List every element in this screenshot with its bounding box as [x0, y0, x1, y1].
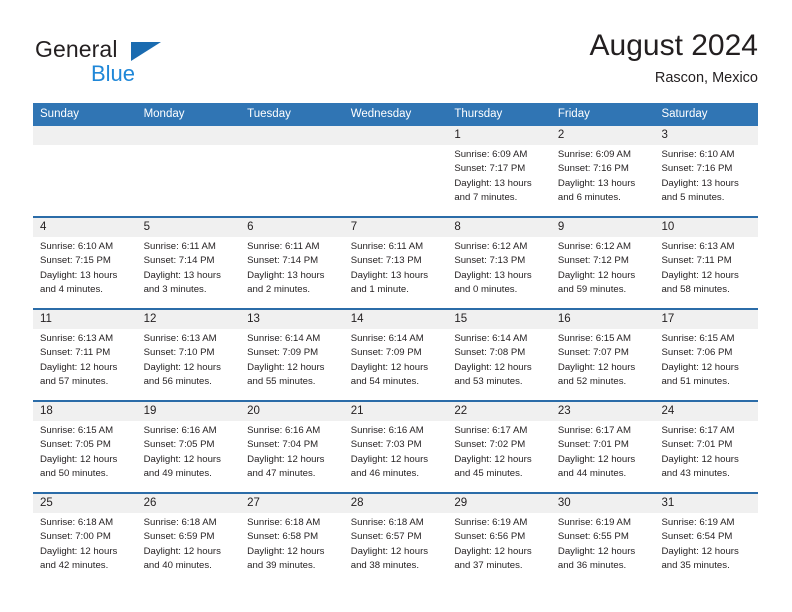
sunset-text: Sunset: 7:04 PM	[247, 438, 336, 452]
sunrise-text: Sunrise: 6:09 AM	[558, 148, 647, 162]
day-details: Sunrise: 6:17 AMSunset: 7:02 PMDaylight:…	[447, 421, 551, 482]
day-details: Sunrise: 6:15 AMSunset: 7:05 PMDaylight:…	[33, 421, 137, 482]
sunset-text: Sunset: 6:55 PM	[558, 530, 647, 544]
day-cell[interactable]: 10Sunrise: 6:13 AMSunset: 7:11 PMDayligh…	[654, 218, 758, 308]
day-number: 8	[447, 218, 551, 237]
day-cell[interactable]: 30Sunrise: 6:19 AMSunset: 6:55 PMDayligh…	[551, 494, 655, 584]
day-number	[33, 126, 137, 145]
sunrise-text: Sunrise: 6:18 AM	[351, 516, 440, 530]
daylight-text-line1: Daylight: 13 hours	[454, 177, 543, 191]
sunrise-text: Sunrise: 6:12 AM	[558, 240, 647, 254]
sunrise-text: Sunrise: 6:12 AM	[454, 240, 543, 254]
day-cell[interactable]: 20Sunrise: 6:16 AMSunset: 7:04 PMDayligh…	[240, 402, 344, 492]
sunrise-text: Sunrise: 6:17 AM	[454, 424, 543, 438]
daylight-text-line2: and 52 minutes.	[558, 375, 647, 389]
daylight-text-line2: and 38 minutes.	[351, 559, 440, 573]
day-number: 15	[447, 310, 551, 329]
daylight-text-line1: Daylight: 13 hours	[247, 269, 336, 283]
daylight-text-line2: and 2 minutes.	[247, 283, 336, 297]
sunset-text: Sunset: 7:09 PM	[351, 346, 440, 360]
day-cell[interactable]: 22Sunrise: 6:17 AMSunset: 7:02 PMDayligh…	[447, 402, 551, 492]
day-cell[interactable]: 17Sunrise: 6:15 AMSunset: 7:06 PMDayligh…	[654, 310, 758, 400]
day-number: 21	[344, 402, 448, 421]
sunrise-text: Sunrise: 6:18 AM	[247, 516, 336, 530]
daylight-text-line2: and 4 minutes.	[40, 283, 129, 297]
sunrise-text: Sunrise: 6:19 AM	[558, 516, 647, 530]
weekday-header-tuesday: Tuesday	[240, 103, 344, 126]
daylight-text-line2: and 1 minute.	[351, 283, 440, 297]
day-details: Sunrise: 6:17 AMSunset: 7:01 PMDaylight:…	[551, 421, 655, 482]
day-cell[interactable]: 16Sunrise: 6:15 AMSunset: 7:07 PMDayligh…	[551, 310, 655, 400]
daylight-text-line1: Daylight: 12 hours	[40, 545, 129, 559]
weekday-header-sunday: Sunday	[33, 103, 137, 126]
daylight-text-line2: and 39 minutes.	[247, 559, 336, 573]
sunset-text: Sunset: 7:05 PM	[144, 438, 233, 452]
day-cell[interactable]: 14Sunrise: 6:14 AMSunset: 7:09 PMDayligh…	[344, 310, 448, 400]
sunrise-text: Sunrise: 6:09 AM	[454, 148, 543, 162]
sunrise-text: Sunrise: 6:15 AM	[661, 332, 750, 346]
sunset-text: Sunset: 7:08 PM	[454, 346, 543, 360]
day-number: 9	[551, 218, 655, 237]
sunrise-text: Sunrise: 6:13 AM	[661, 240, 750, 254]
daylight-text-line1: Daylight: 13 hours	[661, 177, 750, 191]
daylight-text-line1: Daylight: 12 hours	[351, 361, 440, 375]
sunset-text: Sunset: 7:09 PM	[247, 346, 336, 360]
sunrise-text: Sunrise: 6:14 AM	[247, 332, 336, 346]
day-number: 20	[240, 402, 344, 421]
weekday-header-wednesday: Wednesday	[344, 103, 448, 126]
day-details: Sunrise: 6:11 AMSunset: 7:14 PMDaylight:…	[240, 237, 344, 298]
calendar-page: General Blue August 2024 Rascon, Mexico …	[0, 0, 792, 612]
day-details: Sunrise: 6:19 AMSunset: 6:55 PMDaylight:…	[551, 513, 655, 574]
daylight-text-line1: Daylight: 12 hours	[661, 453, 750, 467]
sunset-text: Sunset: 6:57 PM	[351, 530, 440, 544]
daylight-text-line1: Daylight: 13 hours	[144, 269, 233, 283]
sunset-text: Sunset: 7:17 PM	[454, 162, 543, 176]
daylight-text-line1: Daylight: 13 hours	[454, 269, 543, 283]
day-number: 27	[240, 494, 344, 513]
day-details: Sunrise: 6:10 AMSunset: 7:15 PMDaylight:…	[33, 237, 137, 298]
sunrise-text: Sunrise: 6:19 AM	[454, 516, 543, 530]
day-cell[interactable]: 21Sunrise: 6:16 AMSunset: 7:03 PMDayligh…	[344, 402, 448, 492]
day-details: Sunrise: 6:13 AMSunset: 7:11 PMDaylight:…	[33, 329, 137, 390]
day-number: 25	[33, 494, 137, 513]
sunset-text: Sunset: 7:11 PM	[40, 346, 129, 360]
sunset-text: Sunset: 7:01 PM	[558, 438, 647, 452]
sunset-text: Sunset: 7:14 PM	[247, 254, 336, 268]
day-number: 11	[33, 310, 137, 329]
sunset-text: Sunset: 7:01 PM	[661, 438, 750, 452]
day-cell[interactable]: 13Sunrise: 6:14 AMSunset: 7:09 PMDayligh…	[240, 310, 344, 400]
day-cell[interactable]: 6Sunrise: 6:11 AMSunset: 7:14 PMDaylight…	[240, 218, 344, 308]
sunset-text: Sunset: 7:13 PM	[454, 254, 543, 268]
day-cell[interactable]: 28Sunrise: 6:18 AMSunset: 6:57 PMDayligh…	[344, 494, 448, 584]
sunset-text: Sunset: 7:10 PM	[144, 346, 233, 360]
daylight-text-line1: Daylight: 12 hours	[661, 545, 750, 559]
day-cell[interactable]: 31Sunrise: 6:19 AMSunset: 6:54 PMDayligh…	[654, 494, 758, 584]
sunset-text: Sunset: 7:15 PM	[40, 254, 129, 268]
day-cell[interactable]: 8Sunrise: 6:12 AMSunset: 7:13 PMDaylight…	[447, 218, 551, 308]
day-number: 24	[654, 402, 758, 421]
sunrise-text: Sunrise: 6:11 AM	[144, 240, 233, 254]
sunrise-text: Sunrise: 6:16 AM	[144, 424, 233, 438]
daylight-text-line1: Daylight: 12 hours	[558, 361, 647, 375]
day-number: 29	[447, 494, 551, 513]
day-details: Sunrise: 6:11 AMSunset: 7:14 PMDaylight:…	[137, 237, 241, 298]
day-number: 1	[447, 126, 551, 145]
daylight-text-line2: and 46 minutes.	[351, 467, 440, 481]
daylight-text-line2: and 36 minutes.	[558, 559, 647, 573]
daylight-text-line2: and 3 minutes.	[144, 283, 233, 297]
day-number: 5	[137, 218, 241, 237]
sunrise-text: Sunrise: 6:16 AM	[351, 424, 440, 438]
day-details: Sunrise: 6:12 AMSunset: 7:13 PMDaylight:…	[447, 237, 551, 298]
day-cell[interactable]: 25Sunrise: 6:18 AMSunset: 7:00 PMDayligh…	[33, 494, 137, 584]
sunrise-text: Sunrise: 6:11 AM	[351, 240, 440, 254]
daylight-text-line2: and 47 minutes.	[247, 467, 336, 481]
day-details: Sunrise: 6:16 AMSunset: 7:03 PMDaylight:…	[344, 421, 448, 482]
daylight-text-line1: Daylight: 12 hours	[661, 269, 750, 283]
daylight-text-line2: and 5 minutes.	[661, 191, 750, 205]
daylight-text-line1: Daylight: 12 hours	[247, 545, 336, 559]
day-number: 14	[344, 310, 448, 329]
day-details: Sunrise: 6:18 AMSunset: 6:59 PMDaylight:…	[137, 513, 241, 574]
day-cell[interactable]: 15Sunrise: 6:14 AMSunset: 7:08 PMDayligh…	[447, 310, 551, 400]
day-number: 17	[654, 310, 758, 329]
day-number	[344, 126, 448, 145]
sunset-text: Sunset: 6:56 PM	[454, 530, 543, 544]
brand-name-general: General	[35, 36, 118, 63]
day-cell[interactable]: 26Sunrise: 6:18 AMSunset: 6:59 PMDayligh…	[137, 494, 241, 584]
sunrise-text: Sunrise: 6:18 AM	[144, 516, 233, 530]
day-details: Sunrise: 6:10 AMSunset: 7:16 PMDaylight:…	[654, 145, 758, 206]
sunrise-text: Sunrise: 6:13 AM	[40, 332, 129, 346]
day-details: Sunrise: 6:16 AMSunset: 7:05 PMDaylight:…	[137, 421, 241, 482]
sunset-text: Sunset: 7:11 PM	[661, 254, 750, 268]
daylight-text-line2: and 51 minutes.	[661, 375, 750, 389]
daylight-text-line2: and 49 minutes.	[144, 467, 233, 481]
day-cell[interactable]: 11Sunrise: 6:13 AMSunset: 7:11 PMDayligh…	[33, 310, 137, 400]
sunrise-text: Sunrise: 6:14 AM	[351, 332, 440, 346]
daylight-text-line2: and 37 minutes.	[454, 559, 543, 573]
weekday-header-row: Sunday Monday Tuesday Wednesday Thursday…	[33, 103, 758, 126]
title-block: August 2024 Rascon, Mexico	[590, 28, 758, 88]
daylight-text-line1: Daylight: 12 hours	[144, 545, 233, 559]
daylight-text-line1: Daylight: 12 hours	[351, 453, 440, 467]
day-number: 3	[654, 126, 758, 145]
daylight-text-line1: Daylight: 12 hours	[247, 453, 336, 467]
sunset-text: Sunset: 7:03 PM	[351, 438, 440, 452]
day-details: Sunrise: 6:15 AMSunset: 7:07 PMDaylight:…	[551, 329, 655, 390]
day-number: 26	[137, 494, 241, 513]
daylight-text-line1: Daylight: 12 hours	[144, 453, 233, 467]
daylight-text-line1: Daylight: 13 hours	[351, 269, 440, 283]
calendar-grid: Sunday Monday Tuesday Wednesday Thursday…	[33, 103, 758, 584]
day-number: 4	[33, 218, 137, 237]
day-details: Sunrise: 6:15 AMSunset: 7:06 PMDaylight:…	[654, 329, 758, 390]
day-details: Sunrise: 6:16 AMSunset: 7:04 PMDaylight:…	[240, 421, 344, 482]
day-details: Sunrise: 6:14 AMSunset: 7:09 PMDaylight:…	[240, 329, 344, 390]
day-number: 23	[551, 402, 655, 421]
daylight-text-line2: and 0 minutes.	[454, 283, 543, 297]
sunset-text: Sunset: 6:58 PM	[247, 530, 336, 544]
day-cell[interactable]: 5Sunrise: 6:11 AMSunset: 7:14 PMDaylight…	[137, 218, 241, 308]
day-cell[interactable]: 12Sunrise: 6:13 AMSunset: 7:10 PMDayligh…	[137, 310, 241, 400]
daylight-text-line1: Daylight: 13 hours	[40, 269, 129, 283]
day-details: Sunrise: 6:14 AMSunset: 7:08 PMDaylight:…	[447, 329, 551, 390]
daylight-text-line1: Daylight: 13 hours	[558, 177, 647, 191]
day-details: Sunrise: 6:18 AMSunset: 7:00 PMDaylight:…	[33, 513, 137, 574]
day-details: Sunrise: 6:17 AMSunset: 7:01 PMDaylight:…	[654, 421, 758, 482]
calendar-week-row: 11Sunrise: 6:13 AMSunset: 7:11 PMDayligh…	[33, 308, 758, 400]
day-cell[interactable]: 23Sunrise: 6:17 AMSunset: 7:01 PMDayligh…	[551, 402, 655, 492]
day-number: 12	[137, 310, 241, 329]
brand-logo[interactable]: General Blue	[33, 28, 293, 88]
day-number: 22	[447, 402, 551, 421]
daylight-text-line1: Daylight: 12 hours	[247, 361, 336, 375]
sunrise-text: Sunrise: 6:13 AM	[144, 332, 233, 346]
day-cell[interactable]: 27Sunrise: 6:18 AMSunset: 6:58 PMDayligh…	[240, 494, 344, 584]
sunrise-text: Sunrise: 6:17 AM	[661, 424, 750, 438]
day-cell-empty	[33, 126, 137, 216]
sunrise-text: Sunrise: 6:14 AM	[454, 332, 543, 346]
weekday-header-monday: Monday	[137, 103, 241, 126]
sunset-text: Sunset: 7:07 PM	[558, 346, 647, 360]
daylight-text-line2: and 55 minutes.	[247, 375, 336, 389]
day-details: Sunrise: 6:13 AMSunset: 7:11 PMDaylight:…	[654, 237, 758, 298]
page-subtitle: Rascon, Mexico	[590, 68, 758, 88]
sunset-text: Sunset: 7:16 PM	[661, 162, 750, 176]
page-title: August 2024	[590, 28, 758, 64]
sunset-text: Sunset: 7:06 PM	[661, 346, 750, 360]
sunset-text: Sunset: 7:00 PM	[40, 530, 129, 544]
daylight-text-line2: and 56 minutes.	[144, 375, 233, 389]
day-number: 19	[137, 402, 241, 421]
daylight-text-line2: and 7 minutes.	[454, 191, 543, 205]
daylight-text-line2: and 54 minutes.	[351, 375, 440, 389]
day-cell[interactable]: 29Sunrise: 6:19 AMSunset: 6:56 PMDayligh…	[447, 494, 551, 584]
page-header: General Blue August 2024 Rascon, Mexico	[33, 28, 758, 90]
day-details: Sunrise: 6:13 AMSunset: 7:10 PMDaylight:…	[137, 329, 241, 390]
daylight-text-line2: and 40 minutes.	[144, 559, 233, 573]
day-details: Sunrise: 6:12 AMSunset: 7:12 PMDaylight:…	[551, 237, 655, 298]
day-cell[interactable]: 2Sunrise: 6:09 AMSunset: 7:16 PMDaylight…	[551, 126, 655, 216]
day-cell[interactable]: 7Sunrise: 6:11 AMSunset: 7:13 PMDaylight…	[344, 218, 448, 308]
sunrise-text: Sunrise: 6:17 AM	[558, 424, 647, 438]
day-cell-empty	[344, 126, 448, 216]
sunrise-text: Sunrise: 6:18 AM	[40, 516, 129, 530]
sunrise-text: Sunrise: 6:16 AM	[247, 424, 336, 438]
weekday-header-thursday: Thursday	[447, 103, 551, 126]
daylight-text-line1: Daylight: 12 hours	[558, 545, 647, 559]
daylight-text-line1: Daylight: 12 hours	[661, 361, 750, 375]
daylight-text-line2: and 53 minutes.	[454, 375, 543, 389]
day-number	[240, 126, 344, 145]
daylight-text-line1: Daylight: 12 hours	[558, 269, 647, 283]
daylight-text-line1: Daylight: 12 hours	[454, 453, 543, 467]
calendar-week-row: 18Sunrise: 6:15 AMSunset: 7:05 PMDayligh…	[33, 400, 758, 492]
day-number: 7	[344, 218, 448, 237]
sunset-text: Sunset: 7:05 PM	[40, 438, 129, 452]
sunset-text: Sunset: 6:59 PM	[144, 530, 233, 544]
daylight-text-line2: and 6 minutes.	[558, 191, 647, 205]
day-number: 31	[654, 494, 758, 513]
daylight-text-line2: and 35 minutes.	[661, 559, 750, 573]
day-cell[interactable]: 9Sunrise: 6:12 AMSunset: 7:12 PMDaylight…	[551, 218, 655, 308]
sunrise-text: Sunrise: 6:10 AM	[661, 148, 750, 162]
day-details: Sunrise: 6:09 AMSunset: 7:16 PMDaylight:…	[551, 145, 655, 206]
daylight-text-line1: Daylight: 12 hours	[558, 453, 647, 467]
sunset-text: Sunset: 7:13 PM	[351, 254, 440, 268]
day-number: 18	[33, 402, 137, 421]
day-details: Sunrise: 6:19 AMSunset: 6:56 PMDaylight:…	[447, 513, 551, 574]
weekday-header-saturday: Saturday	[654, 103, 758, 126]
daylight-text-line2: and 43 minutes.	[661, 467, 750, 481]
daylight-text-line2: and 45 minutes.	[454, 467, 543, 481]
brand-name-blue: Blue	[91, 61, 135, 87]
day-details: Sunrise: 6:19 AMSunset: 6:54 PMDaylight:…	[654, 513, 758, 574]
sunset-text: Sunset: 7:02 PM	[454, 438, 543, 452]
day-number: 30	[551, 494, 655, 513]
day-number: 6	[240, 218, 344, 237]
day-cell[interactable]: 3Sunrise: 6:10 AMSunset: 7:16 PMDaylight…	[654, 126, 758, 216]
daylight-text-line1: Daylight: 12 hours	[454, 545, 543, 559]
calendar-week-row: 4Sunrise: 6:10 AMSunset: 7:15 PMDaylight…	[33, 216, 758, 308]
calendar-week-row: 25Sunrise: 6:18 AMSunset: 7:00 PMDayligh…	[33, 492, 758, 584]
sunrise-text: Sunrise: 6:11 AM	[247, 240, 336, 254]
day-cell-empty	[137, 126, 241, 216]
sunrise-text: Sunrise: 6:15 AM	[40, 424, 129, 438]
daylight-text-line1: Daylight: 12 hours	[40, 361, 129, 375]
sunset-text: Sunset: 7:16 PM	[558, 162, 647, 176]
brand-triangle-icon	[131, 42, 161, 61]
weekday-header-friday: Friday	[551, 103, 655, 126]
day-details: Sunrise: 6:18 AMSunset: 6:57 PMDaylight:…	[344, 513, 448, 574]
day-number: 2	[551, 126, 655, 145]
daylight-text-line2: and 58 minutes.	[661, 283, 750, 297]
sunset-text: Sunset: 7:14 PM	[144, 254, 233, 268]
sunrise-text: Sunrise: 6:10 AM	[40, 240, 129, 254]
day-number	[137, 126, 241, 145]
daylight-text-line2: and 44 minutes.	[558, 467, 647, 481]
daylight-text-line2: and 50 minutes.	[40, 467, 129, 481]
day-cell[interactable]: 24Sunrise: 6:17 AMSunset: 7:01 PMDayligh…	[654, 402, 758, 492]
daylight-text-line1: Daylight: 12 hours	[40, 453, 129, 467]
day-details: Sunrise: 6:14 AMSunset: 7:09 PMDaylight:…	[344, 329, 448, 390]
calendar-week-row: 1Sunrise: 6:09 AMSunset: 7:17 PMDaylight…	[33, 126, 758, 216]
day-details: Sunrise: 6:09 AMSunset: 7:17 PMDaylight:…	[447, 145, 551, 206]
daylight-text-line1: Daylight: 12 hours	[144, 361, 233, 375]
day-cell[interactable]: 19Sunrise: 6:16 AMSunset: 7:05 PMDayligh…	[137, 402, 241, 492]
sunrise-text: Sunrise: 6:15 AM	[558, 332, 647, 346]
day-number: 16	[551, 310, 655, 329]
day-cell-empty	[240, 126, 344, 216]
sunset-text: Sunset: 7:12 PM	[558, 254, 647, 268]
calendar-weeks: 1Sunrise: 6:09 AMSunset: 7:17 PMDaylight…	[33, 126, 758, 584]
day-details: Sunrise: 6:18 AMSunset: 6:58 PMDaylight:…	[240, 513, 344, 574]
daylight-text-line1: Daylight: 12 hours	[351, 545, 440, 559]
day-details: Sunrise: 6:11 AMSunset: 7:13 PMDaylight:…	[344, 237, 448, 298]
day-cell[interactable]: 18Sunrise: 6:15 AMSunset: 7:05 PMDayligh…	[33, 402, 137, 492]
day-number: 28	[344, 494, 448, 513]
day-cell[interactable]: 4Sunrise: 6:10 AMSunset: 7:15 PMDaylight…	[33, 218, 137, 308]
day-number: 13	[240, 310, 344, 329]
daylight-text-line2: and 42 minutes.	[40, 559, 129, 573]
daylight-text-line2: and 57 minutes.	[40, 375, 129, 389]
day-number: 10	[654, 218, 758, 237]
daylight-text-line1: Daylight: 12 hours	[454, 361, 543, 375]
sunrise-text: Sunrise: 6:19 AM	[661, 516, 750, 530]
day-cell[interactable]: 1Sunrise: 6:09 AMSunset: 7:17 PMDaylight…	[447, 126, 551, 216]
daylight-text-line2: and 59 minutes.	[558, 283, 647, 297]
sunset-text: Sunset: 6:54 PM	[661, 530, 750, 544]
